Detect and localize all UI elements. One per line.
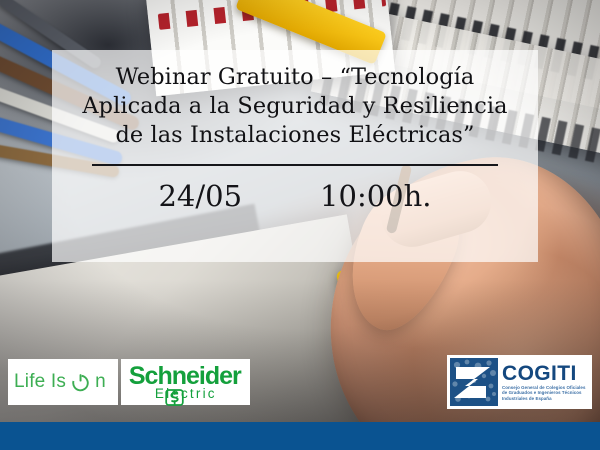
schneider-sub-row: Electric [129, 388, 241, 401]
cogiti-tagline-line-3: Industriales de España [502, 396, 589, 402]
schneider-name: Schneider [129, 364, 241, 388]
life-is-on-label: Life Is [14, 371, 66, 393]
event-date: 24/05 [158, 179, 242, 213]
cogiti-text-block: COGITI Consejo General de Colegios Ofici… [498, 358, 589, 406]
bottom-accent-bar [0, 422, 600, 450]
divider [92, 164, 498, 166]
cogiti-emblem-icon [450, 358, 498, 406]
page-title: Webinar Gratuito – “Tecnología Aplicada … [69, 63, 521, 150]
headline-line-2: Aplicada a la Seguridad y Resiliencia [69, 92, 521, 121]
cogiti-logo: COGITI Consejo General de Colegios Ofici… [447, 355, 592, 409]
schneider-wordmark: Schneider Electric [121, 359, 250, 405]
cogiti-tagline: Consejo General de Colegios Oficiales de… [502, 385, 589, 402]
event-schedule: 24/05 10:00h. [85, 179, 505, 213]
schneider-s-mark-icon [165, 388, 184, 407]
headline-overlay-panel: Webinar Gratuito – “Tecnología Aplicada … [52, 50, 538, 262]
cogiti-tagline-line-2: de Graduados e Ingenieros Técnicos [502, 390, 589, 396]
power-icon [71, 373, 90, 392]
webinar-poster: Webinar Gratuito – “Tecnología Aplicada … [0, 0, 600, 450]
life-is-on-tagline: Life Is n [8, 359, 118, 405]
headline-line-3: de las Instalaciones Eléctricas” [69, 121, 521, 150]
event-time: 10:00h. [320, 179, 431, 213]
life-is-on-label-end: n [95, 371, 106, 393]
headline-line-1: Webinar Gratuito – “Tecnología [69, 63, 521, 92]
schneider-electric-logo: Life Is n Schneider Electric [8, 359, 250, 405]
cogiti-name: COGITI [502, 363, 589, 384]
